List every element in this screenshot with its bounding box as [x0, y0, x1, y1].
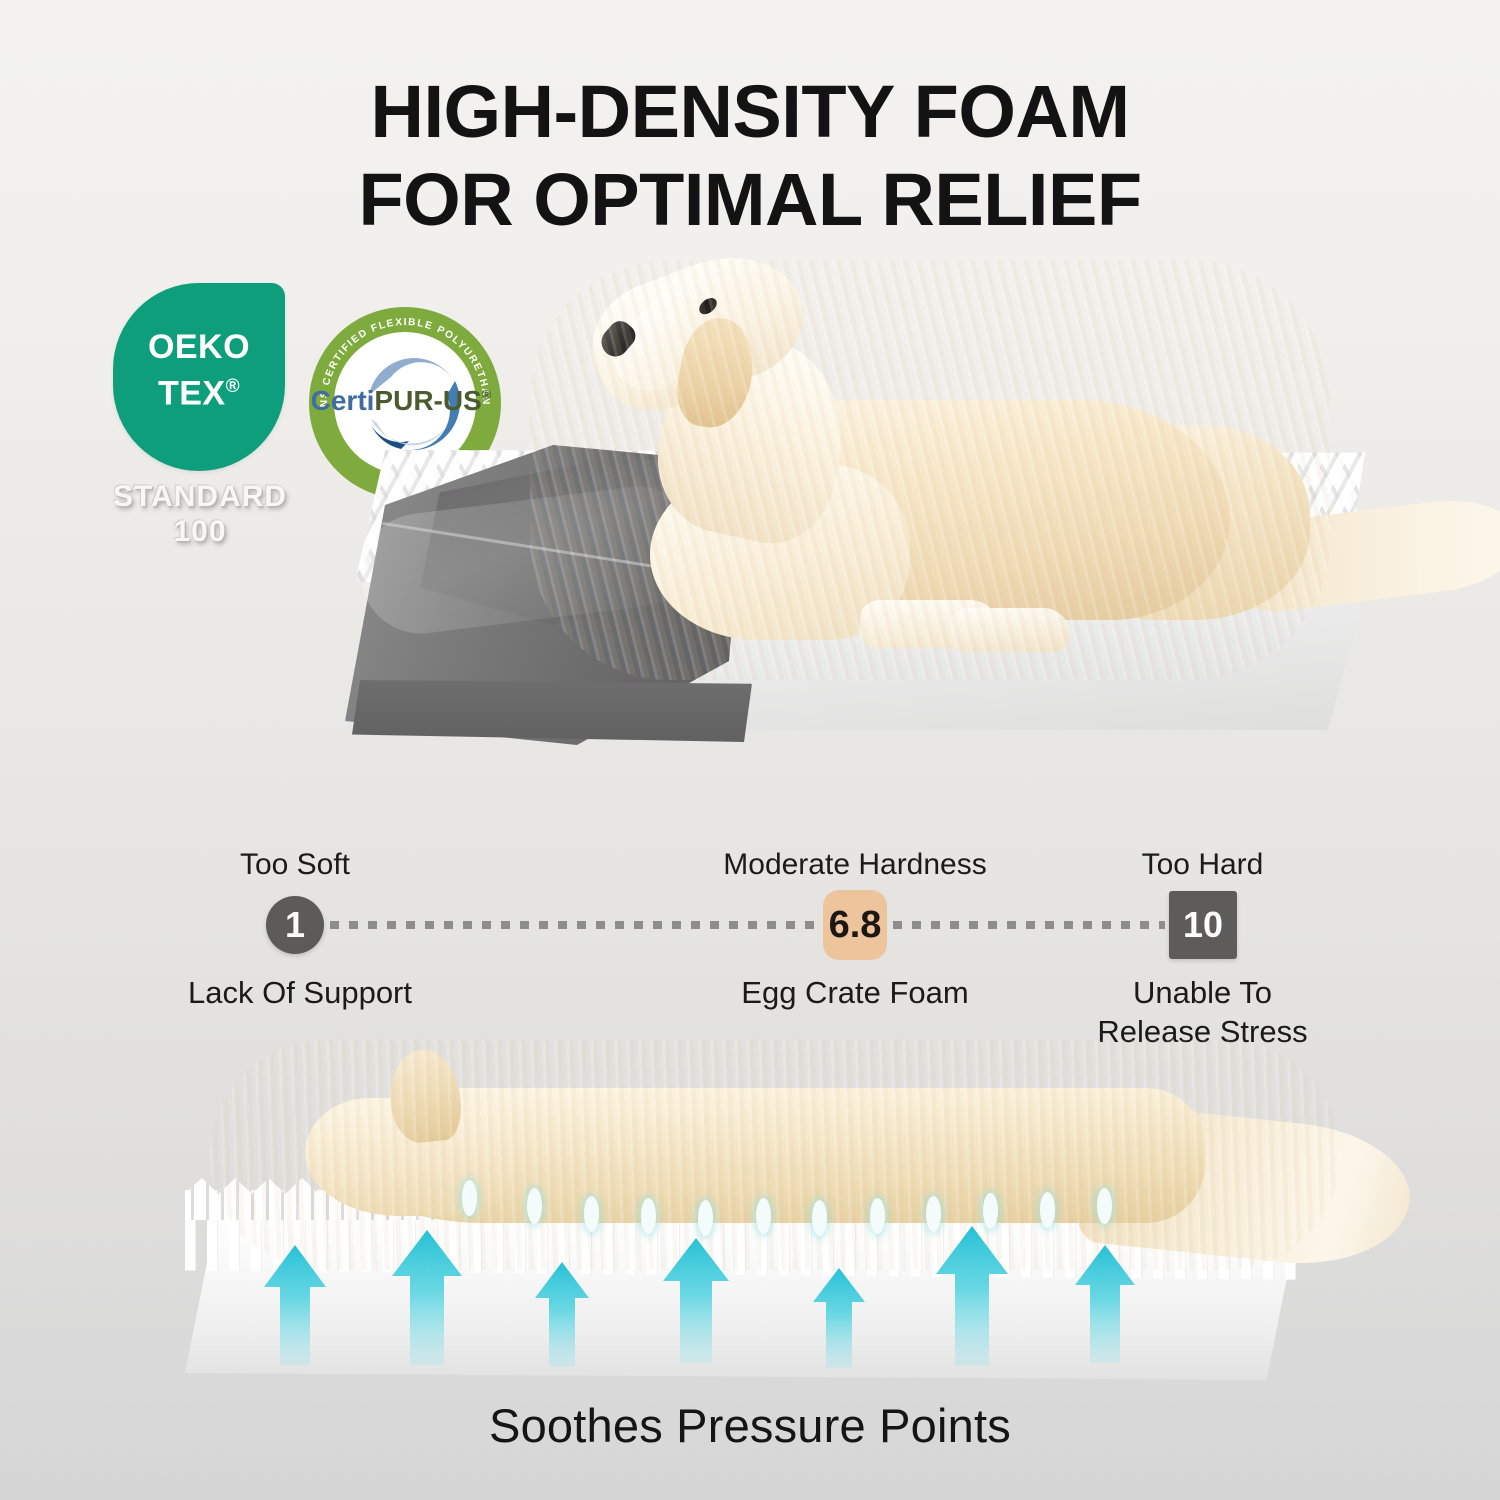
unable-to-line-1: Unable To [1133, 975, 1272, 1010]
scale-top-label-moderate: Moderate Hardness [705, 848, 1005, 882]
labrador-dog-lying [210, 1040, 1340, 1270]
oeko-standard-line-1: STANDARD [113, 480, 287, 513]
oeko-standard-line-2: 100 [173, 515, 226, 548]
scale-bottom-label-lack-of-support: Lack Of Support [155, 973, 445, 1012]
page-title: HIGH-DENSITY FOAM FOR OPTIMAL RELIEF [0, 68, 1500, 244]
scale-track-right [893, 921, 1165, 929]
page-title-line-2: FOR OPTIMAL RELIEF [0, 156, 1500, 244]
spine-pressure-dot [584, 1196, 599, 1232]
pressure-relief-illustration [160, 1040, 1345, 1380]
pressure-arrow-up-icon [388, 1230, 466, 1365]
oeko-tex-badge: OEKO TEX® STANDARD 100 [113, 283, 303, 471]
pressure-arrow-up-icon [932, 1226, 1012, 1366]
oeko-tex-line-2: TEX [158, 374, 226, 412]
dog-second-paw [950, 608, 1070, 652]
spine-pressure-dot [1040, 1192, 1055, 1228]
bed-gray-skirt [352, 680, 752, 742]
oeko-tex-line-1: OEKO [148, 328, 250, 366]
spine-pressure-dot [1097, 1188, 1112, 1224]
scale-top-label-soft: Too Soft [200, 848, 390, 882]
spine-pressure-dot [698, 1200, 713, 1236]
scale-node-6-8[interactable]: 6.8 [823, 890, 887, 960]
footer-caption: Soothes Pressure Points [0, 1398, 1500, 1453]
product-photo-dog-bed [280, 250, 1410, 810]
spine-pressure-dot [870, 1198, 885, 1234]
pressure-arrow-up-icon [532, 1262, 592, 1367]
spine-pressure-dot [527, 1188, 542, 1224]
oeko-tex-droplet-icon: OEKO TEX® [113, 283, 285, 471]
scale-track-left [330, 921, 820, 929]
registered-mark-icon: ® [226, 376, 241, 397]
oeko-tex-wordmark: OEKO TEX® [113, 327, 285, 413]
pressure-arrow-up-icon [260, 1245, 330, 1365]
pressure-arrow-up-icon [1072, 1245, 1138, 1363]
scale-node-10[interactable]: 10 [1169, 891, 1237, 959]
hardness-scale: Too Soft Moderate Hardness Too Hard 1 6.… [0, 840, 1500, 1050]
page-title-line-1: HIGH-DENSITY FOAM [371, 70, 1130, 153]
scale-top-label-hard: Too Hard [1105, 848, 1300, 882]
labrador-dog-sitting [530, 260, 1330, 680]
spine-pressure-dot [641, 1198, 656, 1234]
spine-pressure-dot [756, 1198, 771, 1234]
scale-node-1[interactable]: 1 [266, 896, 324, 954]
pressure-arrow-up-icon [810, 1268, 868, 1368]
spine-pressure-dot [983, 1193, 998, 1229]
scale-bottom-label-egg-crate-foam: Egg Crate Foam [710, 973, 1000, 1012]
pressure-arrow-up-icon [660, 1238, 732, 1363]
spine-pressure-dot [462, 1180, 477, 1216]
spine-pressure-dot [812, 1200, 827, 1236]
